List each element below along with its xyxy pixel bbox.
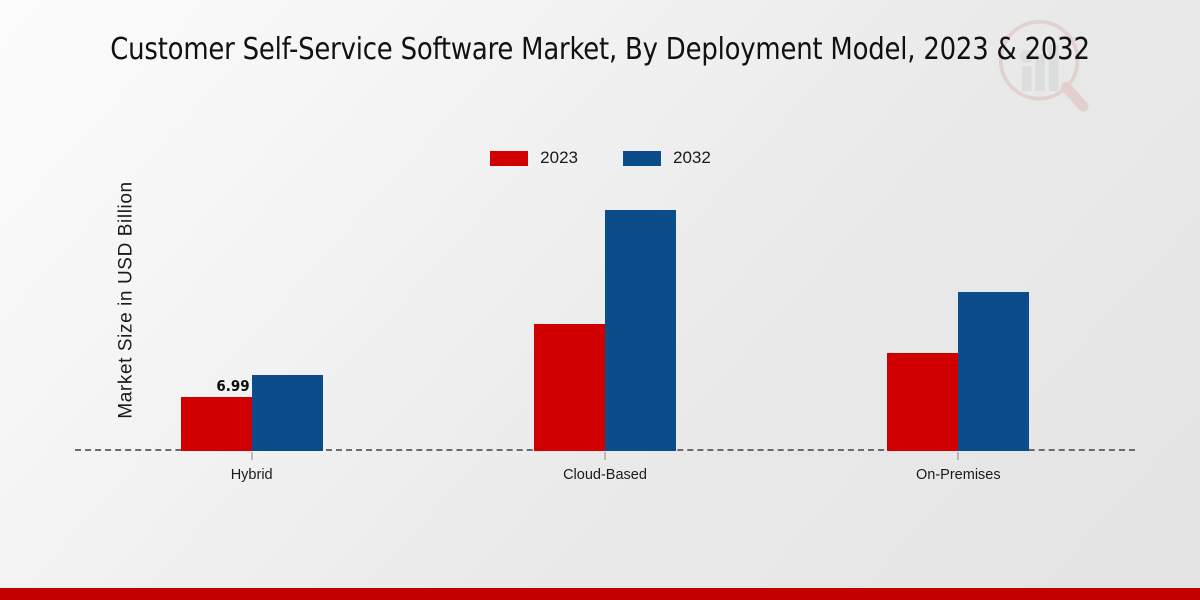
bar-hybrid-2023[interactable]: 6.99 xyxy=(181,397,252,451)
x-label-hybrid: Hybrid xyxy=(231,467,273,483)
x-label-on-premises: On-Premises xyxy=(916,467,1001,483)
page-title: Customer Self-Service Software Market, B… xyxy=(24,32,1176,67)
bar-group-cloud-based: Cloud-Based xyxy=(428,190,781,451)
x-tick-on-premises xyxy=(958,452,959,460)
x-label-cloud-based: Cloud-Based xyxy=(563,467,647,483)
legend-label-2032: 2032 xyxy=(673,148,711,168)
chart-container: Customer Self-Service Software Market, B… xyxy=(0,0,1200,600)
footer-accent-bar xyxy=(0,588,1200,600)
x-tick-hybrid xyxy=(251,452,252,460)
legend-item-2032[interactable]: 2032 xyxy=(622,148,711,168)
bars-on-premises xyxy=(887,190,1029,451)
bar-groups: 6.99 Hybrid Cloud-Based xyxy=(75,190,1135,451)
bar-on-premises-2023[interactable] xyxy=(887,353,958,451)
legend-swatch-2023 xyxy=(489,150,529,167)
bar-group-hybrid: 6.99 Hybrid xyxy=(75,190,428,451)
bar-group-on-premises: On-Premises xyxy=(782,190,1135,451)
bar-cloud-based-2032[interactable] xyxy=(605,210,676,451)
bar-value-hybrid-2023: 6.99 xyxy=(216,377,249,395)
legend-swatch-2032 xyxy=(622,150,662,167)
bar-cloud-based-2023[interactable] xyxy=(534,324,605,451)
legend-label-2023: 2023 xyxy=(540,148,578,168)
bar-on-premises-2032[interactable] xyxy=(958,292,1029,451)
chart-legend: 2023 2032 xyxy=(0,148,1200,168)
legend-item-2023[interactable]: 2023 xyxy=(489,148,578,168)
x-tick-cloud-based xyxy=(604,452,605,460)
bars-cloud-based xyxy=(534,190,676,451)
plot-area: 6.99 Hybrid Cloud-Based xyxy=(75,190,1135,451)
bar-hybrid-2032[interactable] xyxy=(252,375,323,451)
bars-hybrid: 6.99 xyxy=(181,190,323,451)
